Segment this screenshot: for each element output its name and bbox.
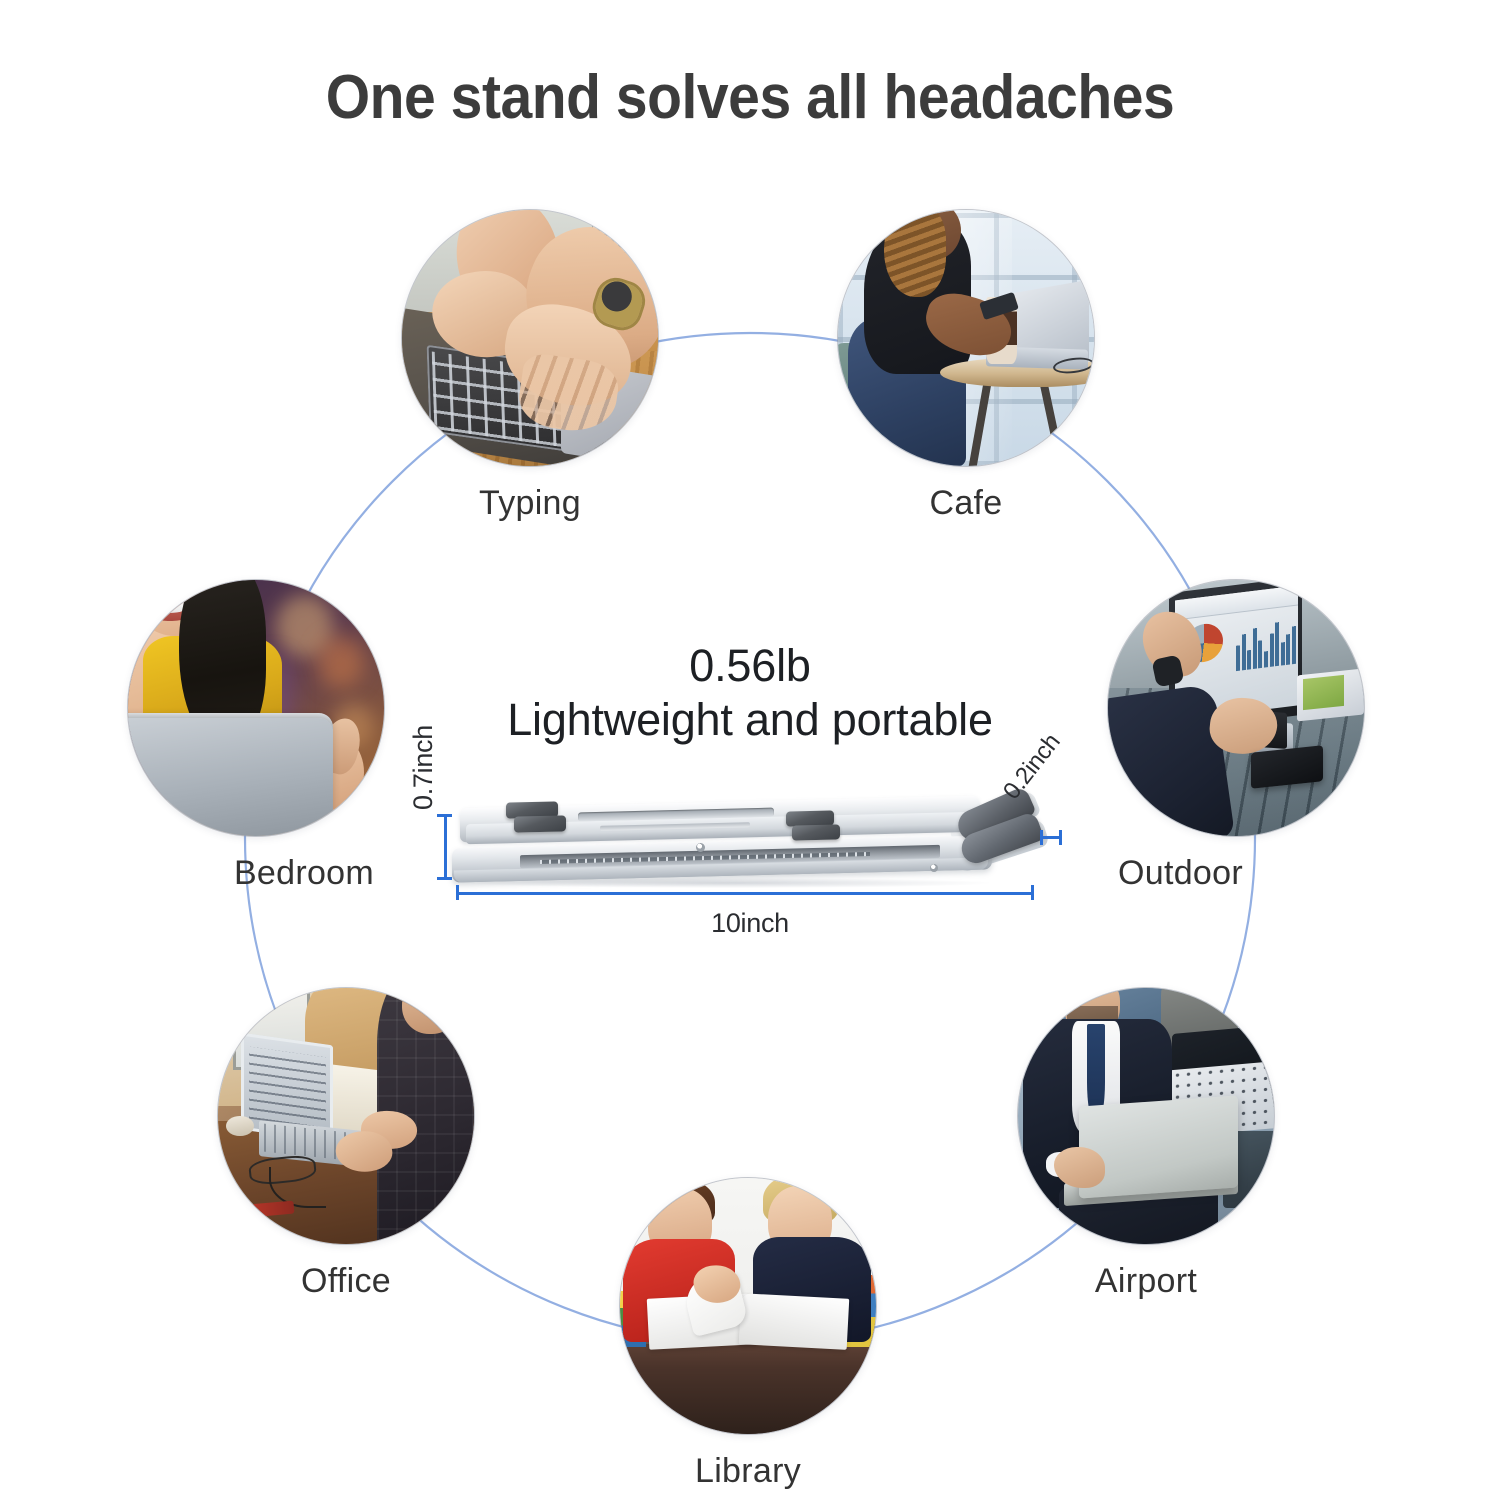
product-image-with-dimensions: 0.7inch 10inch 0.2inch <box>400 780 1100 980</box>
scenario-label-library: Library <box>620 1452 876 1491</box>
scenario-label-bedroom: Bedroom <box>128 854 384 893</box>
dimension-width-label: 10inch <box>400 908 1100 939</box>
infographic-canvas: One stand solves all headaches <box>0 0 1500 1500</box>
scenario-node-typing[interactable]: Typing <box>402 210 658 523</box>
scenario-node-airport[interactable]: Airport <box>1018 988 1274 1301</box>
outdoor-photo <box>1108 580 1364 836</box>
scenario-node-library[interactable]: Library <box>620 1178 876 1491</box>
scenario-label-cafe: Cafe <box>838 484 1094 523</box>
typing-photo <box>402 210 658 466</box>
scenario-node-outdoor[interactable]: Outdoor <box>1108 580 1364 893</box>
center-info-block: 0.56lb Lightweight and portable <box>400 640 1100 980</box>
scenario-node-bedroom[interactable]: Bedroom <box>128 580 384 893</box>
cafe-photo <box>838 210 1094 466</box>
scenario-node-office[interactable]: Office <box>218 988 474 1301</box>
airport-photo <box>1018 988 1274 1244</box>
scenario-label-typing: Typing <box>402 484 658 523</box>
product-tagline: Lightweight and portable <box>400 694 1100 746</box>
bedroom-photo <box>128 580 384 836</box>
scenario-node-cafe[interactable]: Cafe <box>838 210 1094 523</box>
office-photo <box>218 988 474 1244</box>
scenario-label-office: Office <box>218 1262 474 1301</box>
scenario-label-outdoor: Outdoor <box>1108 854 1364 893</box>
dimension-height-label: 0.7inch <box>408 725 439 810</box>
page-title: One stand solves all headaches <box>60 62 1440 133</box>
library-photo <box>620 1178 876 1434</box>
product-weight: 0.56lb <box>400 640 1100 692</box>
scenario-label-airport: Airport <box>1018 1262 1274 1301</box>
